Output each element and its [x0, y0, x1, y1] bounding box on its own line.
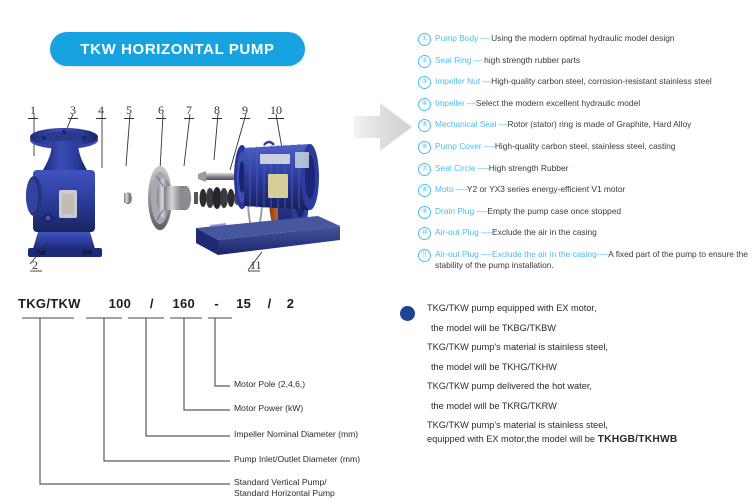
legend-desc-7: High strength Rubber [489, 163, 569, 173]
note-line-1: TKG/TKW pump equipped with EX motor, [427, 302, 750, 314]
note-line-8-model: TKHGB/TKHWB [598, 434, 678, 445]
legend-desc-4: Select the modern excellent hydraulic mo… [476, 98, 640, 108]
model-sep-1: / [144, 296, 160, 311]
model-seg-prefix: TKG/TKW [18, 296, 96, 311]
bullet-icon [400, 306, 415, 321]
legend-item-6: ⑥ Pump Cover -----High-quality carbon st… [418, 141, 752, 154]
pump-body-graphic [26, 128, 102, 257]
legend-desc-6: High-quality carbon steel, stainless ste… [495, 141, 676, 151]
legend-number-1: ① [418, 33, 431, 46]
model-label-standard-horizontal-pump: Standard Horizontal Pump [234, 488, 335, 498]
callout-2: 2 [32, 258, 38, 273]
callout-7: 7 [184, 103, 194, 119]
legend-dash-4: ---- [465, 98, 476, 108]
note-line-7: TKG/TKW pump's material is stainless ste… [427, 419, 750, 431]
callout-11: 11 [250, 258, 262, 273]
model-seg-inlet: 100 [100, 296, 140, 311]
legend-dash-3: ---- [480, 76, 491, 86]
legend-desc-8: Y2 or YX3 series energy-efficient V1 mot… [467, 184, 625, 194]
legend-number-3: ③ [418, 76, 431, 89]
legend-name-4: Impeller [435, 98, 465, 108]
legend-name-9: Drain Plug [435, 206, 474, 216]
note-line-5: TKG/TKW pump delivered the hot water, [427, 380, 750, 392]
legend-dash-11: ----- [479, 249, 492, 259]
callout-10: 10 [268, 103, 284, 119]
legend-item-3: ③ Impeller Nut ----High-quality carbon s… [418, 76, 752, 89]
callout-3: 3 [68, 103, 78, 119]
legend-item-2: ② Seal Ring ---- high strength rubber pa… [418, 55, 752, 68]
legend-name-3: Impeller Nut [435, 76, 480, 86]
legend-item-9: ⑨ Drain Plug -----Empty the pump case on… [418, 206, 752, 219]
legend-number-9: ⑨ [418, 206, 431, 219]
callout-9: 9 [240, 103, 250, 119]
legend-item-5: ⑤ Mechanical Seal ----Rotor (stator) rin… [418, 119, 752, 132]
legend-desc-9: Empty the pump case once stopped [487, 206, 621, 216]
model-code-breakdown: TKG/TKW 100 / 160 - 15 / 2 [18, 296, 388, 496]
legend-number-10: ⑩ [418, 227, 431, 240]
legend-desc-10: Exclude the air in the casing [492, 227, 597, 237]
callout-5: 5 [124, 103, 134, 119]
note-line-2: the model will be TKBG/TKBW [427, 322, 750, 334]
model-label-inlet-outlet-diameter: Pump Inlet/Outlet Diameter (mm) [234, 454, 360, 464]
parts-legend-list: ① Pump Body ---- Using the modern optima… [418, 33, 752, 280]
legend-dash-8: ----- [454, 184, 467, 194]
model-code-string: TKG/TKW 100 / 160 - 15 / 2 [18, 296, 299, 311]
legend-number-8: ⑧ [418, 184, 431, 197]
legend-desc-blue-11: Exclude the air in the casing [492, 249, 597, 259]
model-variant-notes: TKG/TKW pump equipped with EX motor, the… [400, 302, 750, 454]
note-line-8-prefix: equipped with EX motor,the model will be [427, 434, 598, 444]
legend-dash-2: ---- [471, 55, 484, 65]
legend-item-7: ⑦ Seal Circle -----High strength Rubber [418, 163, 752, 176]
note-line-8: equipped with EX motor,the model will be… [427, 433, 750, 446]
legend-number-6: ⑥ [418, 141, 431, 154]
legend-item-11: ⑪ Air-out Plug -----Exclude the air in t… [418, 249, 752, 271]
legend-number-4: ④ [418, 98, 431, 111]
page-title-banner: TKW HORIZONTAL PUMP [50, 32, 305, 66]
legend-dash-1: ---- [478, 33, 491, 43]
legend-dash-6: ----- [482, 141, 495, 151]
legend-desc-5: Rotor (stator) ring is made of Graphite,… [507, 119, 691, 129]
legend-number-2: ② [418, 55, 431, 68]
legend-desc-rest-11: A fixed part of the pump to [608, 249, 706, 259]
model-label-standard-vertical-pump: Standard Vertical Pump/ [234, 477, 327, 487]
model-leader-lines [40, 318, 230, 484]
legend-desc-1: Using the modern optimal hydraulic model… [491, 33, 674, 43]
legend-dash-5: ---- [496, 119, 507, 129]
legend-desc-3: High-quality carbon steel, corrosion-res… [491, 76, 712, 86]
motor-body-graphic [244, 142, 319, 210]
legend-item-10: ⑩ Air-out Plug -----Exclude the air in t… [418, 227, 752, 240]
legend-item-1: ① Pump Body ---- Using the modern optima… [418, 33, 752, 46]
legend-number-7: ⑦ [418, 163, 431, 176]
legend-item-8: ⑧ Moto -----Y2 or YX3 series energy-effi… [418, 184, 752, 197]
callout-4: 4 [96, 103, 106, 119]
model-seg-pole: 2 [281, 296, 299, 311]
model-seg-impeller: 160 [164, 296, 204, 311]
impeller-nut-graphic [124, 192, 132, 204]
legend-dash-10: ----- [479, 227, 492, 237]
legend-name-6: Pump Cover [435, 141, 482, 151]
flow-arrow-icon [352, 96, 414, 163]
legend-name-5: Mechanical Seal [435, 119, 496, 129]
note-line-4: the model will be TKHG/TKHW [427, 361, 750, 373]
note-line-6: the model will be TKRG/TKRW [427, 400, 750, 412]
model-sep-2: - [208, 296, 226, 311]
legend-name-11: Air-out Plug [435, 249, 479, 259]
legend-name-2: Seal Ring [435, 55, 471, 65]
callout-8: 8 [212, 103, 222, 119]
page-title: TKW HORIZONTAL PUMP [80, 41, 274, 58]
model-seg-power: 15 [230, 296, 258, 311]
note-line-3: TKG/TKW pump's material is stainless ste… [427, 341, 750, 353]
model-label-motor-power: Motor Power (kW) [234, 403, 303, 413]
legend-number-11: ⑪ [418, 249, 431, 262]
legend-item-4: ④ Impeller ----Select the modern excelle… [418, 98, 752, 111]
legend-name-10: Air-out Plug [435, 227, 479, 237]
motor-shaft-graphic [198, 171, 240, 182]
legend-dash2-11: ----- [597, 249, 608, 259]
legend-name-7: Seal Circle [435, 163, 476, 173]
legend-dash-7: ----- [476, 163, 489, 173]
legend-number-5: ⑤ [418, 119, 431, 132]
page-root: TKW HORIZONTAL PUMP [0, 0, 756, 500]
callout-6: 6 [156, 103, 166, 119]
legend-name-1: Pump Body [435, 33, 478, 43]
model-label-impeller-diameter: Impeller Nominal Diameter (mm) [234, 429, 358, 439]
legend-desc-2: high strength rubber parts [484, 55, 580, 65]
model-sep-3: / [262, 296, 278, 311]
impeller-graphic [148, 166, 191, 230]
callout-1: 1 [28, 103, 38, 119]
legend-dash-9: ----- [474, 206, 487, 216]
model-label-motor-pole: Motor Pole (2,4,6,) [234, 379, 305, 389]
legend-name-8: Moto [435, 184, 454, 194]
